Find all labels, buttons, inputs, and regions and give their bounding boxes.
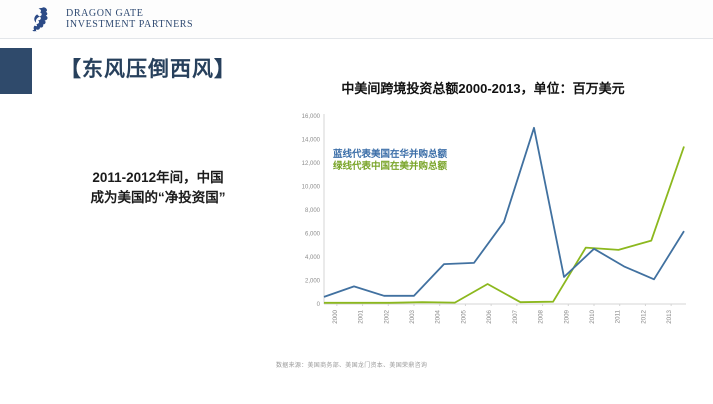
body-copy-line-1: 2011-2012年间，中国: [58, 168, 258, 188]
brand-line-2: INVESTMENT PARTNERS: [66, 19, 193, 30]
svg-text:8,000: 8,000: [305, 208, 321, 214]
svg-text:2010: 2010: [589, 309, 596, 323]
svg-text:2001: 2001: [358, 309, 365, 323]
svg-text:2012: 2012: [640, 309, 647, 323]
chart-title: 中美间跨境投资总额2000-2013，单位：百万美元: [268, 78, 698, 97]
svg-text:2011: 2011: [615, 309, 622, 323]
svg-text:2009: 2009: [563, 309, 570, 323]
svg-text:2008: 2008: [538, 309, 545, 323]
line-chart: 02,0004,0006,0008,00010,00012,00014,0001…: [276, 104, 694, 354]
svg-text:16,000: 16,000: [302, 114, 321, 120]
svg-text:14,000: 14,000: [302, 138, 321, 144]
dragon-logo-icon: [28, 5, 58, 35]
chart-source-note: 数据来源：美国商务部、美国龙门资本、美国荣鼎咨询: [276, 360, 427, 369]
body-copy: 2011-2012年间，中国 成为美国的“净投资国”: [58, 168, 258, 208]
svg-text:6,000: 6,000: [305, 232, 321, 238]
legend-entry-green: 绿线代表中国在美并购总额: [333, 161, 447, 173]
chart-panel: 02,0004,0006,0008,00010,00012,00014,0001…: [276, 104, 694, 354]
x-axis-tick-labels: 2000200120022003200420052006200720082009…: [332, 304, 673, 324]
chart-legend: 蓝线代表美国在华并购总额 绿线代表中国在美并购总额: [333, 149, 447, 172]
svg-text:10,000: 10,000: [302, 185, 321, 191]
slide-canvas: DRAGON GATE INVESTMENT PARTNERS 【东风压倒西风】…: [0, 0, 713, 404]
slide-header: DRAGON GATE INVESTMENT PARTNERS: [0, 0, 713, 39]
svg-text:12,000: 12,000: [302, 161, 321, 167]
brand-line-1: DRAGON GATE: [66, 8, 193, 19]
chart-block: 中美间跨境投资总额2000-2013，单位：百万美元 02,0004,0006,…: [268, 78, 698, 378]
page-title: 【东风压倒西风】: [60, 53, 236, 83]
body-copy-line-2: 成为美国的“净投资国”: [58, 188, 258, 208]
svg-text:2007: 2007: [512, 309, 519, 323]
svg-text:2003: 2003: [409, 309, 416, 323]
legend-entry-blue: 蓝线代表美国在华并购总额: [333, 149, 447, 161]
title-accent-bar: [0, 48, 32, 94]
y-axis-tick-labels: 02,0004,0006,0008,00010,00012,00014,0001…: [302, 114, 321, 308]
svg-text:4,000: 4,000: [305, 255, 321, 261]
svg-text:2005: 2005: [460, 309, 467, 323]
svg-text:2004: 2004: [435, 309, 442, 323]
svg-text:2002: 2002: [383, 309, 390, 323]
svg-text:2,000: 2,000: [305, 279, 321, 285]
svg-text:2006: 2006: [486, 309, 493, 323]
svg-text:2013: 2013: [666, 309, 673, 323]
svg-text:2000: 2000: [332, 309, 339, 323]
brand-name: DRAGON GATE INVESTMENT PARTNERS: [66, 8, 193, 30]
svg-text:0: 0: [317, 302, 321, 308]
